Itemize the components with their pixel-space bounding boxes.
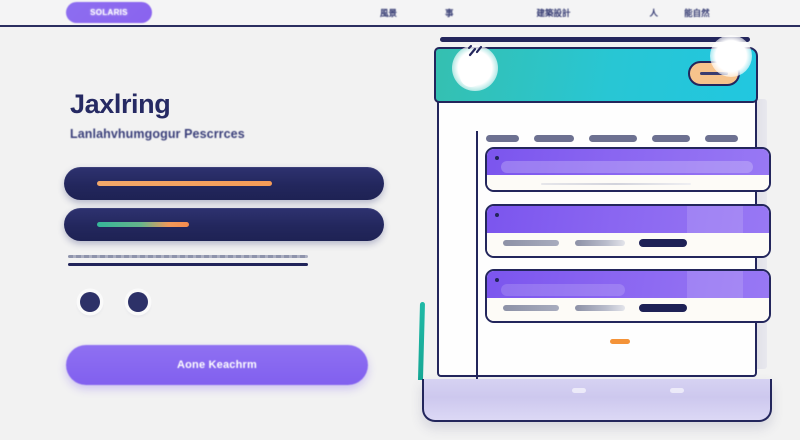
- hero-column: Jaxlring Lanlahvhumgogur Pescrrces Aone …: [0, 27, 420, 440]
- page-root: SOLARIS 風景 事 建築設計 人 能自然 Jaxlring Lanlahv…: [0, 0, 800, 440]
- glow-blob-right: [710, 35, 752, 77]
- tab-placeholder-0[interactable]: [486, 135, 519, 142]
- text-placeholder-thin: [541, 183, 691, 185]
- window-inner-rule: [476, 131, 478, 393]
- text-placeholder-fade: [575, 240, 625, 246]
- card-accent-band: [487, 149, 769, 175]
- list-card[interactable]: [485, 204, 771, 258]
- app-mockup: [404, 27, 800, 440]
- card-accent-band: [487, 271, 769, 298]
- divider-solid: [68, 263, 308, 266]
- card-highlight: [687, 206, 743, 233]
- site-header: SOLARIS 風景 事 建築設計 人 能自然: [0, 0, 800, 27]
- nav-item-1[interactable]: 事: [445, 7, 454, 19]
- teal-accent-stroke: [418, 302, 425, 380]
- progress-bar-secondary[interactable]: [64, 208, 384, 241]
- tab-placeholder-3[interactable]: [652, 135, 690, 142]
- progress-fill-primary: [97, 181, 272, 186]
- card-highlight: [687, 271, 743, 298]
- base-notch: [572, 388, 586, 393]
- base-notch: [670, 388, 684, 393]
- list-card[interactable]: [485, 269, 771, 323]
- progress-fill-secondary: [97, 222, 189, 227]
- card-inner-bar: [501, 284, 625, 296]
- mockup-base: [422, 379, 772, 422]
- page-subtitle: Lanlahvhumgogur Pescrrces: [70, 127, 245, 141]
- card-body: [487, 175, 769, 192]
- card-accent-band: [487, 206, 769, 233]
- page-title: Jaxlring: [70, 89, 170, 120]
- card-body: [487, 298, 769, 323]
- nav-item-2[interactable]: 建築設計: [537, 7, 571, 19]
- nav-item-4[interactable]: 能自然: [684, 7, 710, 19]
- progress-bar-primary[interactable]: [64, 167, 384, 200]
- mockup-tab-strip: [486, 135, 778, 142]
- pagination-dot-2[interactable]: [128, 292, 148, 312]
- card-inner-bar: [501, 161, 753, 173]
- text-placeholder-grey: [503, 240, 559, 246]
- text-placeholder-grey: [503, 305, 559, 311]
- cta-button[interactable]: Aone Keachrm: [66, 345, 368, 385]
- pagination-dot-1[interactable]: [80, 292, 100, 312]
- text-placeholder-fade: [575, 305, 625, 311]
- action-pill[interactable]: [639, 304, 687, 312]
- orange-indicator: [610, 339, 630, 344]
- tab-placeholder-4[interactable]: [705, 135, 738, 142]
- main-nav: 風景 事 建築設計 人 能自然: [380, 0, 710, 25]
- nav-item-0[interactable]: 風景: [380, 7, 397, 19]
- sparkle-icon: [468, 45, 484, 59]
- tab-placeholder-2[interactable]: [589, 135, 637, 142]
- bullet-icon: [495, 213, 499, 217]
- card-body: [487, 233, 769, 258]
- nav-item-3[interactable]: 人: [650, 7, 659, 19]
- tab-placeholder-1[interactable]: [534, 135, 574, 142]
- window-top-strip: [440, 37, 750, 42]
- action-pill[interactable]: [639, 239, 687, 247]
- bullet-icon: [495, 156, 499, 160]
- logo-pill[interactable]: SOLARIS: [66, 2, 152, 23]
- list-card[interactable]: [485, 147, 771, 192]
- divider-dashed: [68, 255, 308, 258]
- bullet-icon: [495, 278, 499, 282]
